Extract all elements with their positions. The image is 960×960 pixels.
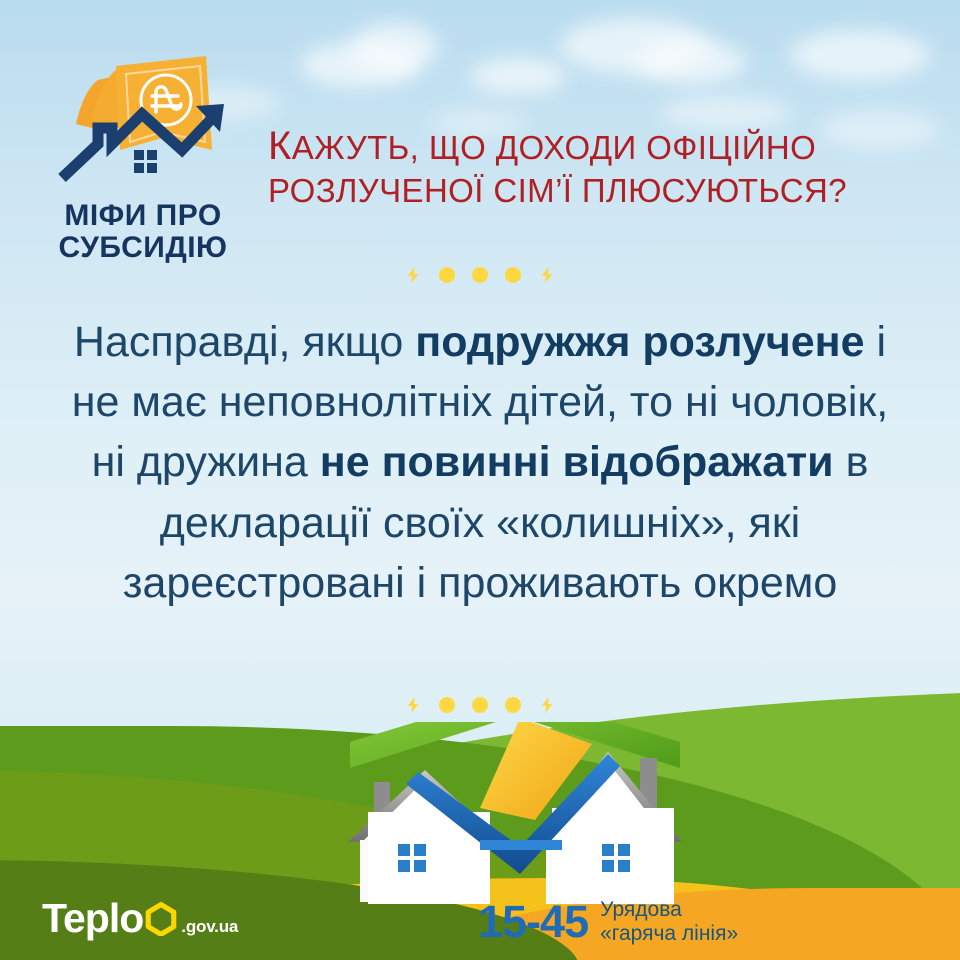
divider-dot	[472, 697, 488, 713]
headline-question: КАЖУТЬ, ЩО ДОХОДИ ОФІЦІЙНО РОЗЛУЧЕНОЇ СІ…	[268, 122, 928, 211]
headline-line2: РОЗЛУЧЕНОЇ СІМ’Ї ПЛЮСУЮТЬСЯ?	[268, 172, 847, 209]
hotline-caption-line1: Урядова	[600, 898, 738, 922]
cloud-shape	[790, 30, 930, 80]
hotline-caption: Урядова «гаряча лінія»	[600, 898, 738, 945]
lightning-bolt-icon	[538, 266, 556, 284]
divider-bottom	[0, 696, 960, 714]
banknotes-icon	[20, 46, 266, 196]
two-houses-illustration	[330, 722, 710, 908]
divider-top	[0, 266, 960, 284]
teplo-site-logo[interactable]: Teplo .gov.ua	[42, 898, 238, 939]
brand-title-line2: СУБСИДІЮ	[20, 232, 266, 264]
hotline-block[interactable]: 15-45 Урядова «гаряча лінія»	[478, 898, 738, 945]
cloud-shape	[470, 58, 566, 94]
divider-dot	[439, 267, 455, 283]
hexagon-icon	[144, 902, 178, 936]
body-bold-2: не повинні відображати	[320, 438, 834, 486]
lightning-bolt-icon	[404, 266, 422, 284]
brand-title: МІФИ ПРО СУБСИДІЮ	[20, 200, 266, 265]
brand-logo-block: МІФИ ПРО СУБСИДІЮ	[20, 46, 266, 265]
divider-dot	[505, 267, 521, 283]
hotline-number: 15-45	[478, 899, 588, 944]
body-seg-1: Насправді, якщо	[74, 318, 415, 366]
headline-line1: АЖУТЬ, ЩО ДОХОДИ ОФІЦІЙНО	[292, 129, 816, 166]
poster-canvas: МІФИ ПРО СУБСИДІЮ КАЖУТЬ, ЩО ДОХОДИ ОФІЦ…	[0, 0, 960, 960]
cloud-shape	[352, 22, 438, 72]
cloud-shape	[636, 40, 746, 84]
lightning-bolt-icon	[538, 696, 556, 714]
divider-dot	[505, 697, 521, 713]
body-paragraph: Насправді, якщо подружжя розлучене і не …	[58, 312, 902, 613]
teplo-wordmark: Teplo	[42, 898, 143, 939]
body-bold-1: подружжя розлучене	[415, 318, 864, 366]
divider-dot	[472, 267, 488, 283]
brand-title-line1: МІФИ ПРО	[20, 200, 266, 232]
divider-dot	[439, 697, 455, 713]
hotline-caption-line2: «гаряча лінія»	[600, 922, 738, 946]
teplo-tld: .gov.ua	[181, 917, 238, 937]
logo-window-icon	[134, 150, 157, 173]
lightning-bolt-icon	[404, 696, 422, 714]
headline-dropcap: К	[268, 124, 292, 168]
